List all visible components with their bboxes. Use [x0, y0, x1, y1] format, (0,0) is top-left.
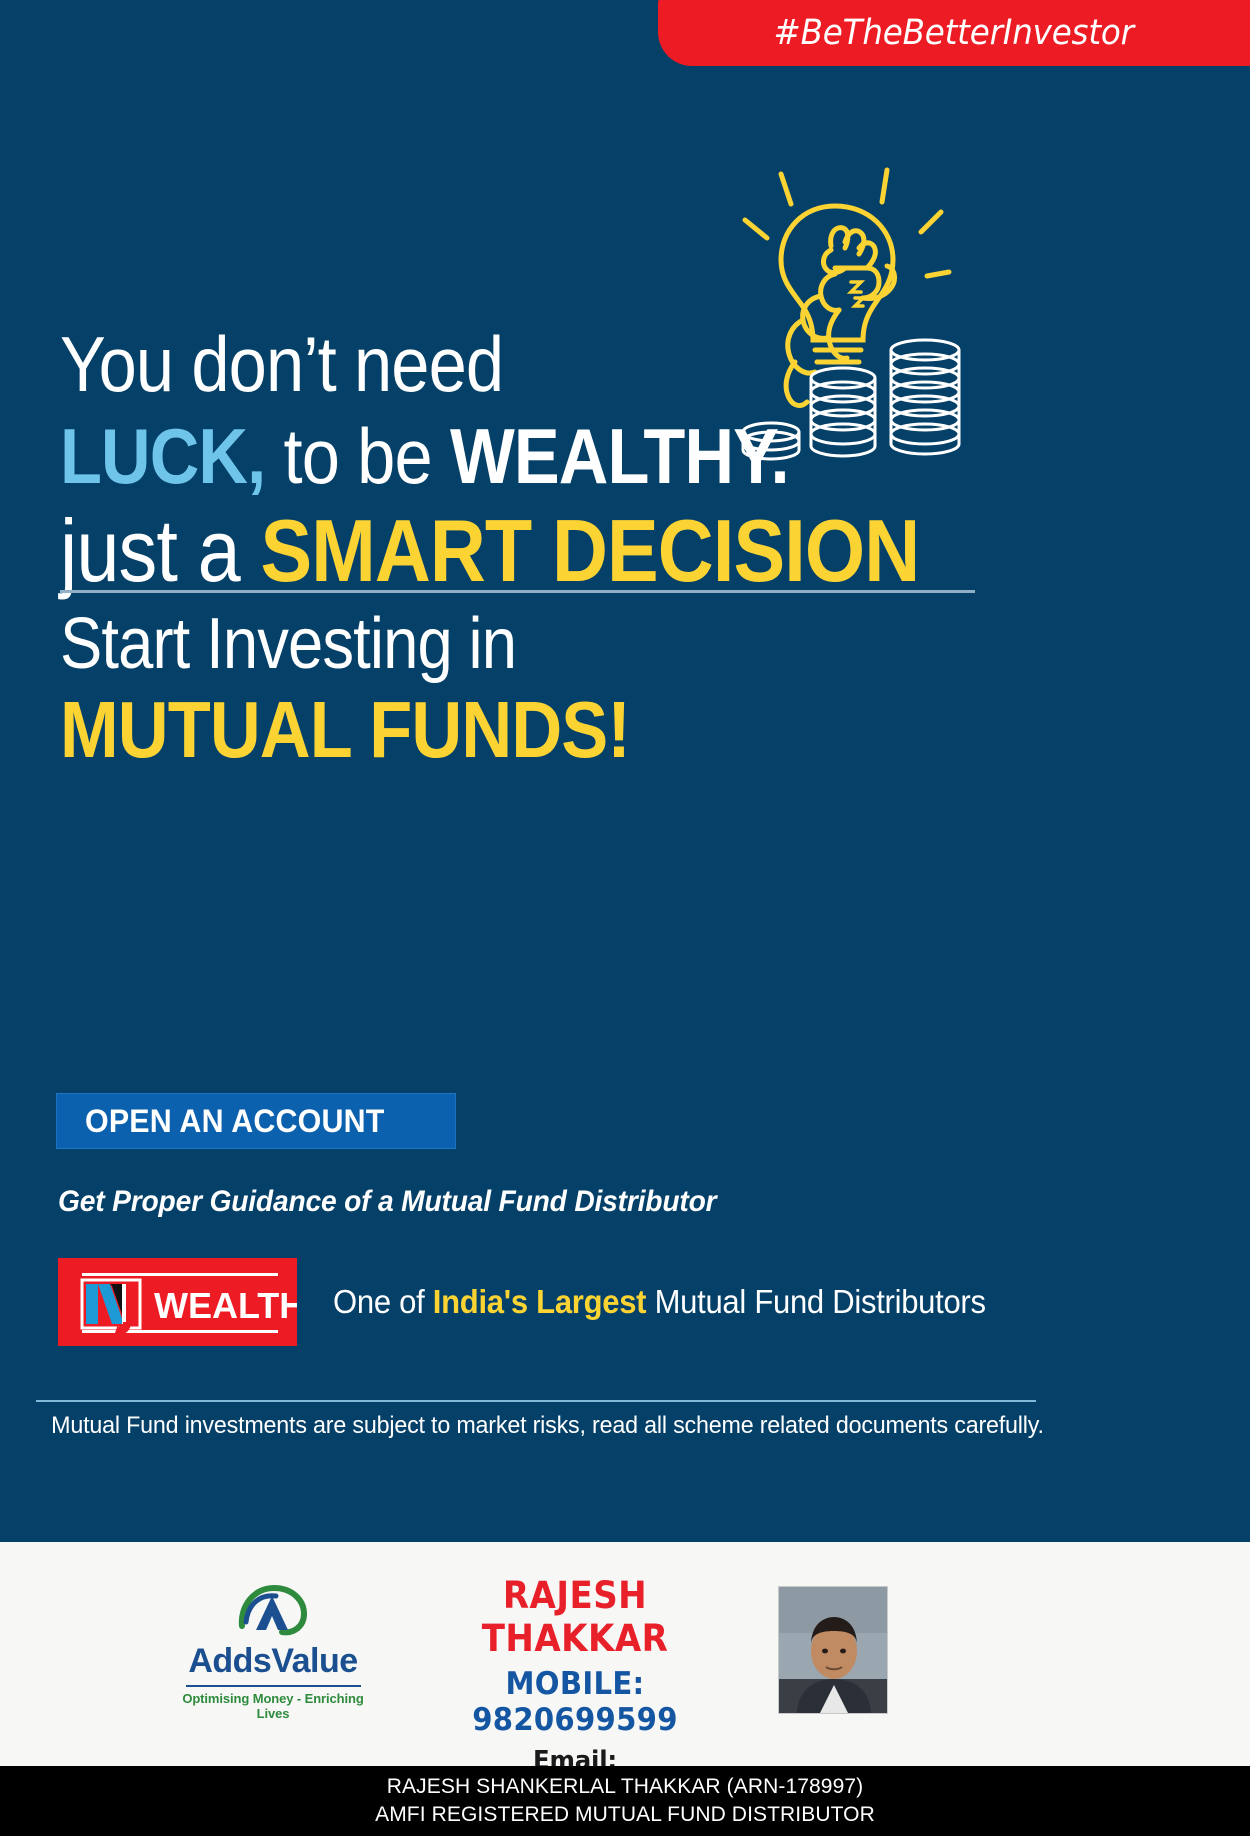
addsvalue-tagline: Optimising Money - Enriching Lives	[178, 1691, 368, 1721]
addsvalue-wordmark: AddsValue	[178, 1642, 368, 1681]
addsvalue-logo: AddsValue Optimising Money - Enriching L…	[178, 1578, 368, 1728]
headline-luck: LUCK,	[60, 412, 265, 500]
contact-mobile: MOBILE: 9820699599	[411, 1666, 740, 1738]
advisor-photo	[778, 1586, 888, 1714]
nj-tagline-pre: One of	[333, 1283, 433, 1320]
nj-tagline: One of India's Largest Mutual Fund Distr…	[333, 1283, 986, 1321]
headline-divider	[60, 590, 975, 593]
poster-root: #BeTheBetterInvestor	[0, 0, 1250, 1836]
nj-wealth-logo: WEALTH WEALTH	[58, 1258, 297, 1346]
hashtag-text: #BeTheBetterInvestor	[774, 13, 1134, 53]
contact-name: RAJESH THAKKAR	[414, 1574, 736, 1660]
nj-wealth-mark: WEALTH	[58, 1258, 297, 1346]
addsvalue-swoosh-icon	[234, 1578, 312, 1640]
headline-line2-mid: to be	[265, 412, 450, 500]
legal-line-1: RAJESH SHANKERLAL THAKKAR (ARN-178997)	[387, 1773, 863, 1801]
nj-tagline-highlight: India's Largest	[433, 1283, 646, 1320]
headline-line-2: LUCK, to be WEALTHY.	[60, 417, 940, 495]
headline-block-2: Start Investing in MUTUAL FUNDS!	[60, 608, 1060, 770]
headline-smart-decision: SMART DECISION	[260, 501, 919, 600]
headline-block: You don’t need LUCK, to be WEALTHY. just…	[60, 325, 1060, 601]
footer-contact-bar: AddsValue Optimising Money - Enriching L…	[0, 1542, 1250, 1766]
legal-line-2: AMFI REGISTERED MUTUAL FUND DISTRIBUTOR	[375, 1801, 875, 1829]
headline-wealthy: WEALTHY.	[450, 412, 789, 500]
addsvalue-underline	[186, 1685, 361, 1687]
hashtag-banner: #BeTheBetterInvestor	[658, 0, 1250, 66]
open-an-account-label: OPEN AN ACCOUNT	[85, 1103, 385, 1140]
guidance-subline: Get Proper Guidance of a Mutual Fund Dis…	[58, 1185, 716, 1219]
disclaimer-divider	[36, 1400, 1036, 1402]
open-an-account-button[interactable]: OPEN AN ACCOUNT	[56, 1093, 456, 1149]
portrait-placeholder-icon	[779, 1587, 888, 1714]
addsvalue-value: Value	[271, 1642, 357, 1680]
headline-line-5: MUTUAL FUNDS!	[60, 690, 940, 770]
svg-text:WEALTH: WEALTH	[154, 1285, 297, 1326]
addsvalue-adds: Adds	[188, 1642, 271, 1680]
legal-bar: RAJESH SHANKERLAL THAKKAR (ARN-178997) A…	[0, 1766, 1250, 1836]
headline-line-4: Start Investing in	[60, 608, 940, 680]
risk-disclaimer: Mutual Fund investments are subject to m…	[51, 1412, 1031, 1440]
headline-line-3: just a SMART DECISION	[60, 507, 940, 595]
headline-justa: just a	[60, 501, 260, 600]
nj-wealth-row: WEALTH WEALTH One of India's Largest Mut…	[58, 1258, 1027, 1346]
headline-line-1: You don’t need	[60, 325, 940, 403]
nj-tagline-post: Mutual Fund Distributors	[646, 1283, 985, 1320]
